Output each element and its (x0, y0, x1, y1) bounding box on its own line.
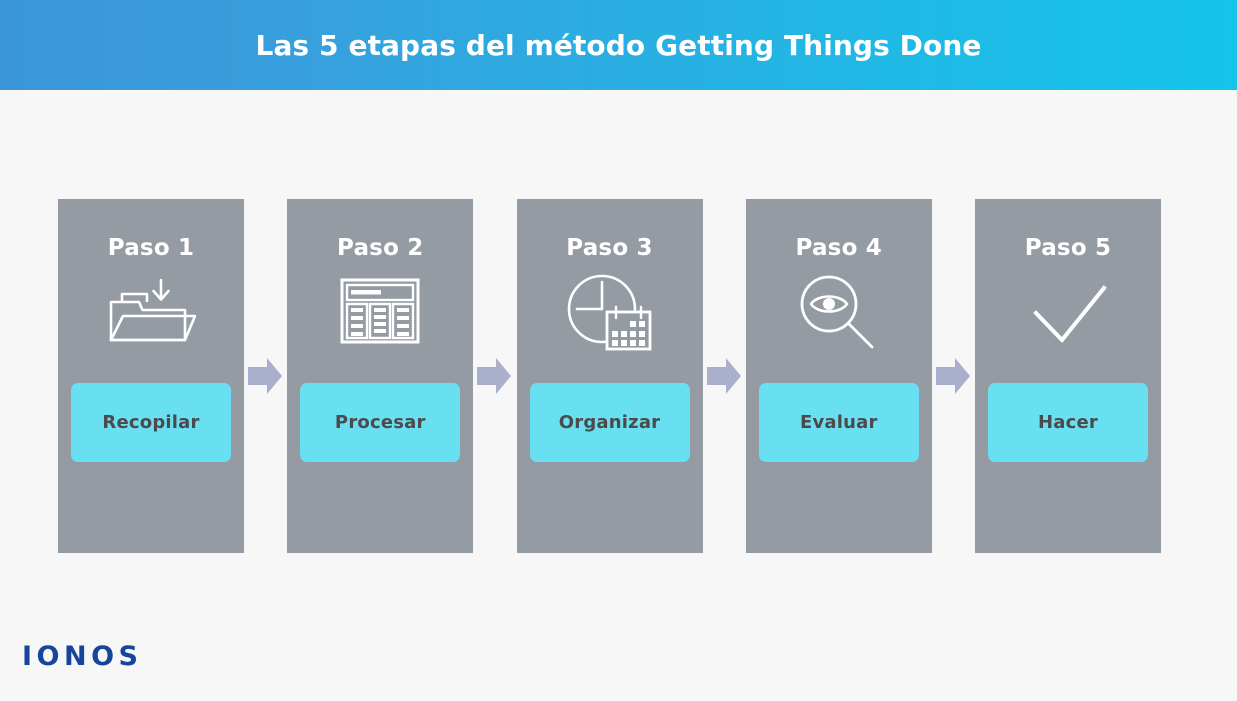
step-label-hacer[interactable]: Hacer (988, 383, 1148, 462)
step-title: Paso 2 (337, 237, 423, 260)
step-label-organizar[interactable]: Organizar (530, 383, 690, 462)
page-title: Las 5 etapas del método Getting Things D… (256, 29, 982, 62)
step-label-procesar[interactable]: Procesar (300, 383, 460, 462)
step-title: Paso 1 (108, 237, 194, 260)
checkmark-icon (975, 272, 1161, 350)
step-card-4[interactable]: Paso 4 Evaluar (746, 199, 932, 553)
step-label-evaluar[interactable]: Evaluar (759, 383, 919, 462)
magnifier-eye-icon (746, 272, 932, 350)
step-card-1[interactable]: Paso 1 Recopilar (58, 199, 244, 553)
step-label-recopilar[interactable]: Recopilar (71, 383, 231, 462)
document-list-icon (287, 272, 473, 350)
arrow-right-icon-1 (245, 354, 286, 398)
process-flow: Paso 1 Recopilar Paso 2 (58, 199, 1161, 553)
step-card-5[interactable]: Paso 5 Hacer (975, 199, 1161, 553)
arrow-right-icon-3 (704, 354, 745, 398)
step-title: Paso 4 (796, 237, 882, 260)
step-title: Paso 5 (1025, 237, 1111, 260)
step-card-3[interactable]: Paso 3 Organizar (517, 199, 703, 553)
step-title: Paso 3 (566, 237, 652, 260)
step-card-2[interactable]: Paso 2 Pro (287, 199, 473, 553)
clock-calendar-icon (517, 272, 703, 350)
arrow-right-icon-2 (474, 354, 515, 398)
ionos-logo: IONOS (22, 643, 143, 670)
folder-download-icon (58, 272, 244, 350)
header-banner: Las 5 etapas del método Getting Things D… (0, 0, 1237, 90)
arrow-right-icon-4 (933, 354, 974, 398)
